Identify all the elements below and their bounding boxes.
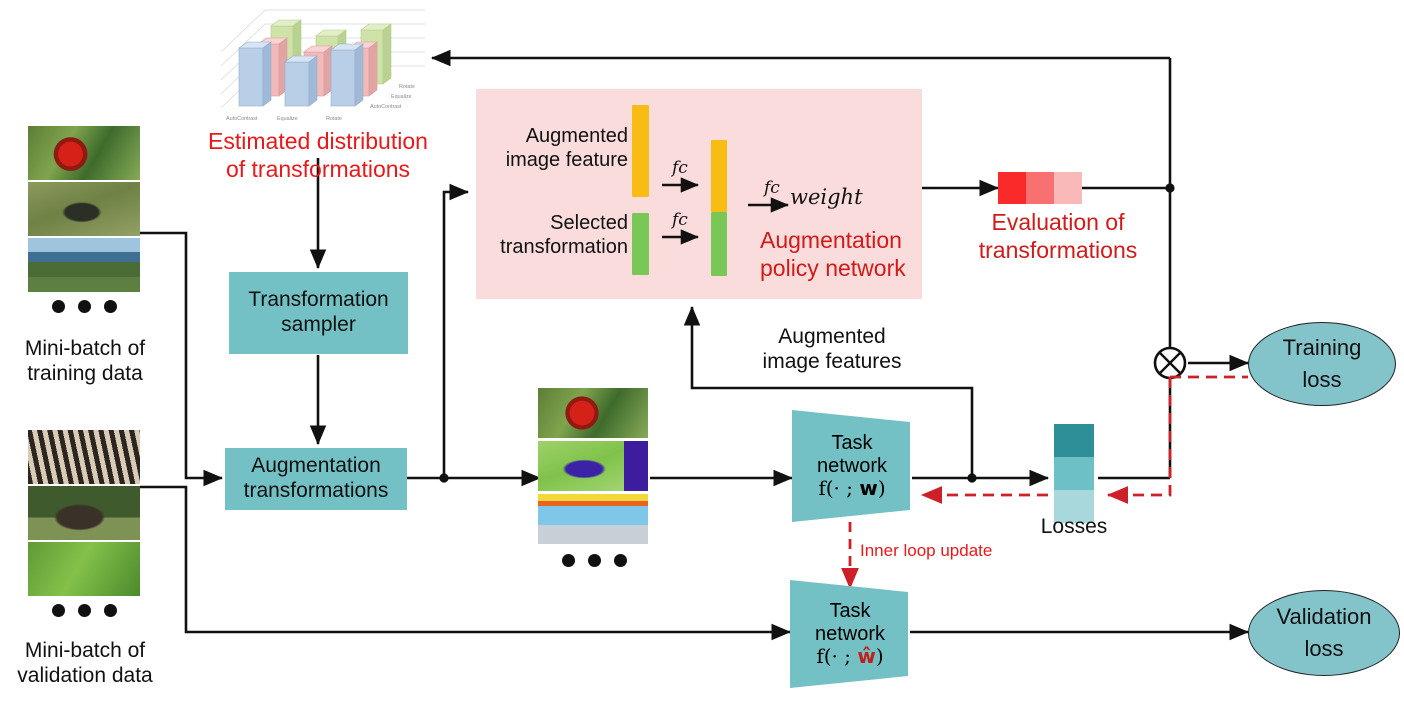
chart-ztick-autocontrast: AutoContrast bbox=[370, 104, 402, 110]
estimated-distribution-chart: AutoContrast Equalize Rotate Rotate Equa… bbox=[213, 8, 431, 126]
loss-cell-1 bbox=[1054, 424, 1094, 457]
augmented-images-ellipsis bbox=[538, 554, 650, 567]
eval-cell-3 bbox=[1054, 172, 1082, 204]
multiply-operator bbox=[1155, 348, 1185, 378]
tn-val-formula-suffix: ) bbox=[876, 644, 884, 668]
eval-line1: Evaluation of bbox=[966, 208, 1150, 236]
augmentation-policy-network-title: Augmentation policy network bbox=[760, 226, 930, 282]
augmented-stones-photo bbox=[538, 494, 648, 544]
zebra-photo bbox=[28, 430, 140, 484]
tn-val-line1: Task bbox=[815, 600, 885, 622]
training-minibatch-caption: Mini-batch of training data bbox=[4, 336, 166, 386]
chart-xtick-autocontrast: AutoContrast bbox=[226, 116, 258, 122]
task-network-train[interactable]: Task network f(· ; w) bbox=[790, 408, 914, 524]
training-loss-node[interactable]: Training loss bbox=[1248, 322, 1396, 406]
tn-train-formula-weight: w bbox=[859, 476, 877, 500]
training-caption-line2: training data bbox=[4, 361, 166, 386]
tn-train-line1: Task bbox=[817, 432, 887, 454]
validation-minibatch-group bbox=[22, 430, 147, 617]
tn-train-line2: network bbox=[817, 455, 887, 477]
fc-label-bottom: fc bbox=[672, 210, 688, 230]
eval-cell-2 bbox=[1026, 172, 1054, 204]
fc-label-top: fc bbox=[672, 158, 688, 178]
weight-output-label: weight bbox=[790, 185, 863, 209]
validation-loss-line1: Validation bbox=[1277, 601, 1372, 633]
validation-loss-node[interactable]: Validation loss bbox=[1248, 590, 1400, 676]
losses-label: Losses bbox=[1032, 514, 1116, 539]
distribution-bar-chart-svg: AutoContrast Equalize Rotate Rotate Equa… bbox=[213, 8, 431, 126]
loss-cell-2 bbox=[1054, 457, 1094, 490]
validation-ellipsis bbox=[22, 604, 147, 617]
validation-loss-line2: loss bbox=[1277, 633, 1372, 665]
augmentation-transformations-box[interactable]: Augmentation transformations bbox=[225, 448, 407, 510]
augmentation-transformations-line1: Augmentation bbox=[244, 454, 389, 479]
evaluation-of-transformations-label: Evaluation of transformations bbox=[966, 208, 1150, 264]
training-caption-line1: Mini-batch of bbox=[4, 336, 166, 361]
standing-stones-photo bbox=[28, 238, 140, 292]
losses-stack bbox=[1054, 424, 1094, 523]
training-minibatch-group bbox=[22, 126, 147, 313]
training-loss-line1: Training bbox=[1283, 332, 1362, 364]
augmented-images-group bbox=[538, 388, 650, 567]
task-network-validation[interactable]: Task network f(· ; ŵ) bbox=[788, 578, 912, 690]
training-ellipsis bbox=[22, 300, 147, 313]
augmented-berry-photo bbox=[538, 388, 648, 438]
apn-line1: Augmentation bbox=[760, 226, 930, 254]
chart-xtick-equalize: Equalize bbox=[277, 116, 298, 122]
augmentation-transformations-line2: transformations bbox=[244, 479, 389, 504]
fc-label-out: fc bbox=[764, 178, 780, 198]
eval-cell-1 bbox=[998, 172, 1026, 204]
eval-line2: transformations bbox=[966, 236, 1150, 264]
validation-caption-line2: validation data bbox=[0, 663, 170, 688]
chart-xtick-rotate: Rotate bbox=[326, 116, 342, 122]
distribution-label-line2: of transformations bbox=[198, 156, 438, 184]
bustard-bird-photo bbox=[28, 182, 140, 236]
distribution-label-line1: Estimated distribution bbox=[198, 128, 438, 156]
inner-loop-update-label: Inner loop update bbox=[860, 541, 992, 561]
apn-line2: policy network bbox=[760, 254, 930, 282]
augmented-image-features-label: Augmented image features bbox=[742, 324, 922, 374]
task-network-train-text: Task network f(· ; w) bbox=[790, 408, 914, 524]
tn-val-line2: network bbox=[815, 623, 885, 645]
diagram-canvas: Mini-batch of training data Mini-batch o… bbox=[0, 0, 1404, 703]
training-loss-line2: loss bbox=[1283, 364, 1362, 396]
transformation-sampler-box[interactable]: Transformation sampler bbox=[229, 272, 408, 354]
evaluation-bar-group bbox=[998, 172, 1082, 204]
validation-caption-line1: Mini-batch of bbox=[0, 638, 170, 663]
tn-train-formula-prefix: f(· ; bbox=[818, 476, 859, 500]
task-network-validation-text: Task network f(· ; ŵ) bbox=[788, 578, 912, 690]
estimated-distribution-label: Estimated distribution of transformation… bbox=[198, 128, 438, 183]
aifs-line1: Augmented bbox=[742, 324, 922, 349]
tn-train-formula: f(· ; w) bbox=[817, 477, 887, 499]
red-berry-photo bbox=[28, 126, 140, 180]
validation-minibatch-caption: Mini-batch of validation data bbox=[0, 638, 170, 688]
tapir-photo bbox=[28, 486, 140, 540]
transformation-sampler-line1: Transformation bbox=[248, 288, 388, 313]
aifs-line2: image features bbox=[742, 349, 922, 374]
tn-train-formula-suffix: ) bbox=[878, 476, 886, 500]
tn-val-formula: f(· ; ŵ) bbox=[815, 645, 885, 667]
augmented-bird-photo bbox=[538, 441, 648, 491]
transformation-sampler-line2: sampler bbox=[248, 313, 388, 338]
tn-val-formula-weight: ŵ bbox=[857, 644, 875, 668]
chart-ztick-equalize: Equalize bbox=[391, 94, 412, 100]
damselfly-photo bbox=[28, 542, 140, 596]
tn-val-formula-prefix: f(· ; bbox=[816, 644, 857, 668]
chart-ztick-rotate: Rotate bbox=[399, 84, 415, 90]
